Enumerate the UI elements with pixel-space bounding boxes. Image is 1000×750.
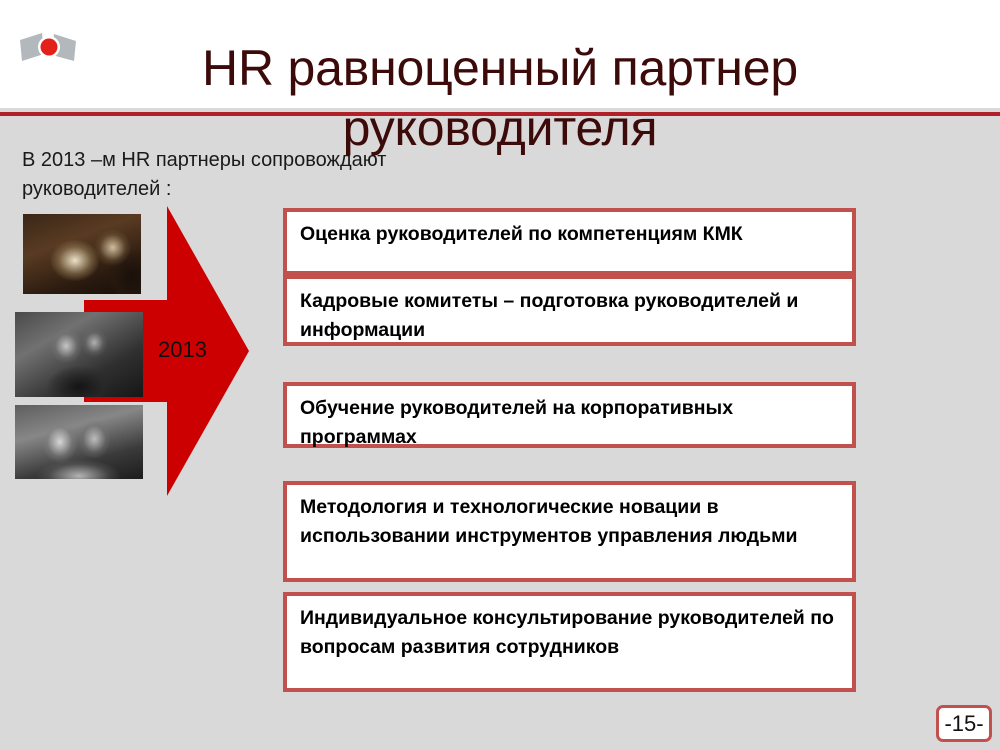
company-logo — [18, 28, 80, 72]
page-number-badge: -15- — [936, 705, 992, 742]
content-box: Индивидуальное консультирование руководи… — [283, 592, 856, 692]
content-box: Методология и технологические новации в … — [283, 481, 856, 582]
arrow-year-label: 2013 — [158, 337, 207, 363]
slide-header-band — [0, 0, 1000, 108]
lead-in-text: В 2013 –м HR партнеры сопровождают руков… — [22, 146, 492, 204]
photo-audience-listening — [15, 405, 143, 479]
header-divider-rule — [0, 112, 1000, 116]
photo-executives-meeting — [23, 214, 141, 294]
presentation-slide: HR равноценный партнер руководителя В 20… — [0, 0, 1000, 750]
content-box: Оценка руководителей по компетенциям КМК — [283, 208, 856, 275]
photo-handshake-conference — [15, 312, 143, 397]
content-box: Обучение руководителей на корпоративных … — [283, 382, 856, 448]
content-box: Кадровые комитеты – подготовка руководит… — [283, 275, 856, 346]
